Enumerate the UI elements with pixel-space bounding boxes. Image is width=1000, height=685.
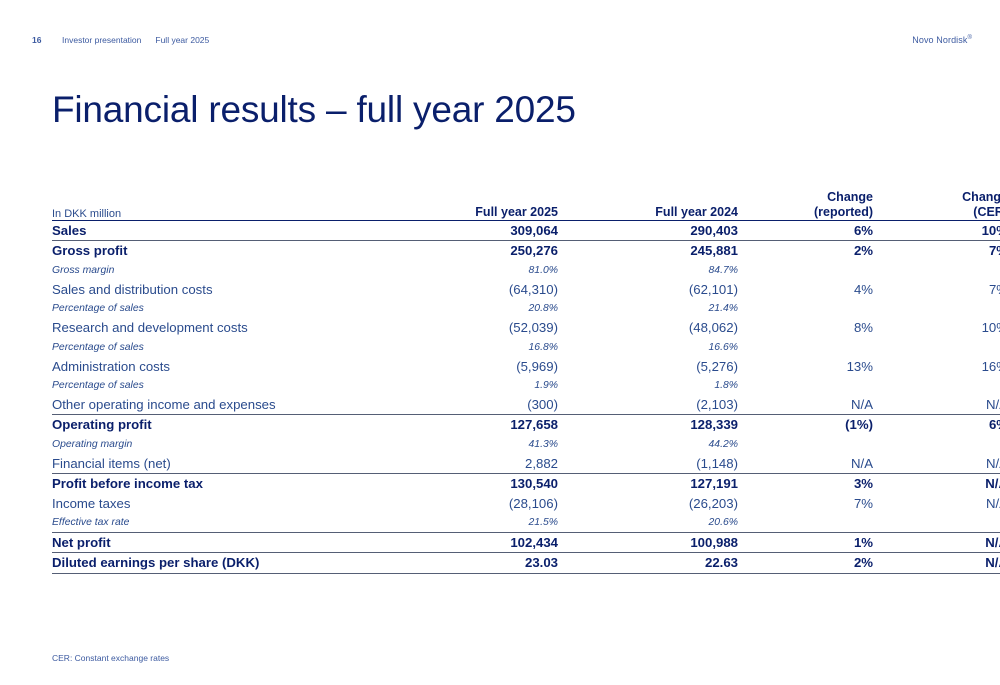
cell-fy2025: (28,106) (412, 494, 558, 513)
cell-change-reported: 7% (738, 494, 873, 513)
row-label: Sales and distribution costs (52, 280, 412, 299)
table-row: Sales309,064290,4036%10% (52, 221, 1000, 241)
column-header-fy2024: Full year 2024 (558, 190, 738, 221)
cell-change-reported: (1%) (738, 415, 873, 435)
cell-change-cer (873, 299, 1000, 318)
cell-fy2024: 16.6% (558, 338, 738, 357)
novo-nordisk-logo: Novo Nordisk® (912, 35, 972, 45)
cell-fy2025: (300) (412, 395, 558, 415)
cell-fy2025: 81.0% (412, 261, 558, 280)
row-label: Profit before income tax (52, 474, 412, 494)
page-title: Financial results – full year 2025 (52, 89, 576, 131)
table-row: Net profit102,434100,9881%N/A (52, 533, 1000, 553)
row-label: Research and development costs (52, 318, 412, 337)
cell-fy2025: 21.5% (412, 513, 558, 533)
cell-fy2025: 309,064 (412, 221, 558, 241)
row-label: Administration costs (52, 357, 412, 376)
cell-fy2024: (62,101) (558, 280, 738, 299)
cell-fy2024: (48,062) (558, 318, 738, 337)
page-number: 16 (32, 35, 62, 45)
cell-change-cer (873, 261, 1000, 280)
cell-fy2024: 20.6% (558, 513, 738, 533)
cell-change-reported: N/A (738, 395, 873, 415)
row-label: Operating profit (52, 415, 412, 435)
cell-fy2024: 128,339 (558, 415, 738, 435)
table-row: Income taxes(28,106)(26,203)7%N/A (52, 494, 1000, 513)
table-row: Percentage of sales1.9%1.8% (52, 376, 1000, 395)
table-row: Percentage of sales16.8%16.6% (52, 338, 1000, 357)
row-label: Income taxes (52, 494, 412, 513)
cell-change-cer: 7% (873, 280, 1000, 299)
cell-change-reported (738, 435, 873, 454)
logo-text: Novo Nordisk (912, 35, 967, 45)
table-row: Effective tax rate21.5%20.6% (52, 513, 1000, 533)
cell-change-reported: 6% (738, 221, 873, 241)
row-label: Sales (52, 221, 412, 241)
cell-change-cer (873, 376, 1000, 395)
cell-change-cer: N/A (873, 553, 1000, 573)
table-row: Sales and distribution costs(64,310)(62,… (52, 280, 1000, 299)
cell-fy2025: (52,039) (412, 318, 558, 337)
table-row: Other operating income and expenses(300)… (52, 395, 1000, 415)
cell-change-reported: 4% (738, 280, 873, 299)
table-row: Operating profit127,658128,339(1%)6% (52, 415, 1000, 435)
cell-change-cer: 10% (873, 221, 1000, 241)
table-row: Diluted earnings per share (DKK)23.0322.… (52, 553, 1000, 573)
cell-change-reported: 1% (738, 533, 873, 553)
cell-fy2024: 44.2% (558, 435, 738, 454)
column-header-change-cer: Change (CER) (873, 190, 1000, 221)
cell-fy2025: 23.03 (412, 553, 558, 573)
cell-change-reported: 2% (738, 553, 873, 573)
cell-fy2024: (5,276) (558, 357, 738, 376)
cell-fy2025: 1.9% (412, 376, 558, 395)
cell-change-cer: N/A (873, 395, 1000, 415)
row-label: Gross profit (52, 241, 412, 261)
deck-name: Investor presentation (62, 35, 141, 45)
cell-change-cer: 6% (873, 415, 1000, 435)
row-label: Gross margin (52, 261, 412, 280)
cell-change-cer: 7% (873, 241, 1000, 261)
cell-fy2025: 130,540 (412, 474, 558, 494)
row-label: Diluted earnings per share (DKK) (52, 553, 412, 573)
column-header-fy2025: Full year 2025 (412, 190, 558, 221)
row-label: Operating margin (52, 435, 412, 454)
cell-fy2024: 21.4% (558, 299, 738, 318)
table-row: Gross margin81.0%84.7% (52, 261, 1000, 280)
cell-fy2025: 102,434 (412, 533, 558, 553)
deck-period: Full year 2025 (155, 35, 209, 45)
table-row: Percentage of sales20.8%21.4% (52, 299, 1000, 318)
cell-fy2024: 84.7% (558, 261, 738, 280)
cell-change-reported (738, 261, 873, 280)
footnote: CER: Constant exchange rates (52, 653, 169, 663)
cell-change-cer: 16% (873, 357, 1000, 376)
cell-change-cer: N/A (873, 454, 1000, 474)
cell-change-cer: N/A (873, 474, 1000, 494)
cell-change-reported: N/A (738, 454, 873, 474)
cell-change-reported (738, 299, 873, 318)
table-row: Gross profit250,276245,8812%7% (52, 241, 1000, 261)
cell-fy2025: 16.8% (412, 338, 558, 357)
row-label: Percentage of sales (52, 338, 412, 357)
cell-change-cer: N/A (873, 494, 1000, 513)
cell-change-reported (738, 513, 873, 533)
row-label: Other operating income and expenses (52, 395, 412, 415)
row-label: Net profit (52, 533, 412, 553)
cell-fy2024: 1.8% (558, 376, 738, 395)
financial-results-table: In DKK million Full year 2025 Full year … (52, 190, 948, 574)
table-row: Research and development costs(52,039)(4… (52, 318, 1000, 337)
cell-change-cer (873, 513, 1000, 533)
row-label: Effective tax rate (52, 513, 412, 533)
cell-fy2025: 127,658 (412, 415, 558, 435)
cell-change-reported (738, 376, 873, 395)
registered-mark: ® (967, 35, 972, 41)
cell-change-cer: N/A (873, 533, 1000, 553)
table-row: Operating margin41.3%44.2% (52, 435, 1000, 454)
table-body: Sales309,064290,4036%10%Gross profit250,… (52, 221, 1000, 574)
cell-fy2025: (64,310) (412, 280, 558, 299)
cell-change-reported: 3% (738, 474, 873, 494)
cell-fy2025: 2,882 (412, 454, 558, 474)
table-row: Profit before income tax130,540127,1913%… (52, 474, 1000, 494)
cell-fy2024: (2,103) (558, 395, 738, 415)
column-header-change-reported: Change (reported) (738, 190, 873, 221)
row-label: Financial items (net) (52, 454, 412, 474)
cell-fy2025: 41.3% (412, 435, 558, 454)
cell-fy2025: 20.8% (412, 299, 558, 318)
cell-fy2025: 250,276 (412, 241, 558, 261)
slide-header: 16 Investor presentation Full year 2025 … (32, 33, 972, 47)
cell-fy2024: (1,148) (558, 454, 738, 474)
table-row: Financial items (net)2,882(1,148)N/AN/A (52, 454, 1000, 474)
cell-change-reported (738, 338, 873, 357)
cell-change-cer: 10% (873, 318, 1000, 337)
cell-change-reported: 8% (738, 318, 873, 337)
row-label: Percentage of sales (52, 376, 412, 395)
cell-fy2024: 127,191 (558, 474, 738, 494)
cell-change-cer (873, 435, 1000, 454)
row-label: Percentage of sales (52, 299, 412, 318)
table-header: In DKK million Full year 2025 Full year … (52, 190, 1000, 221)
cell-fy2024: (26,203) (558, 494, 738, 513)
cell-fy2025: (5,969) (412, 357, 558, 376)
cell-change-reported: 2% (738, 241, 873, 261)
cell-change-reported: 13% (738, 357, 873, 376)
cell-fy2024: 290,403 (558, 221, 738, 241)
table-row: Administration costs(5,969)(5,276)13%16% (52, 357, 1000, 376)
column-header-unit: In DKK million (52, 190, 412, 221)
cell-change-cer (873, 338, 1000, 357)
cell-fy2024: 100,988 (558, 533, 738, 553)
cell-fy2024: 245,881 (558, 241, 738, 261)
cell-fy2024: 22.63 (558, 553, 738, 573)
